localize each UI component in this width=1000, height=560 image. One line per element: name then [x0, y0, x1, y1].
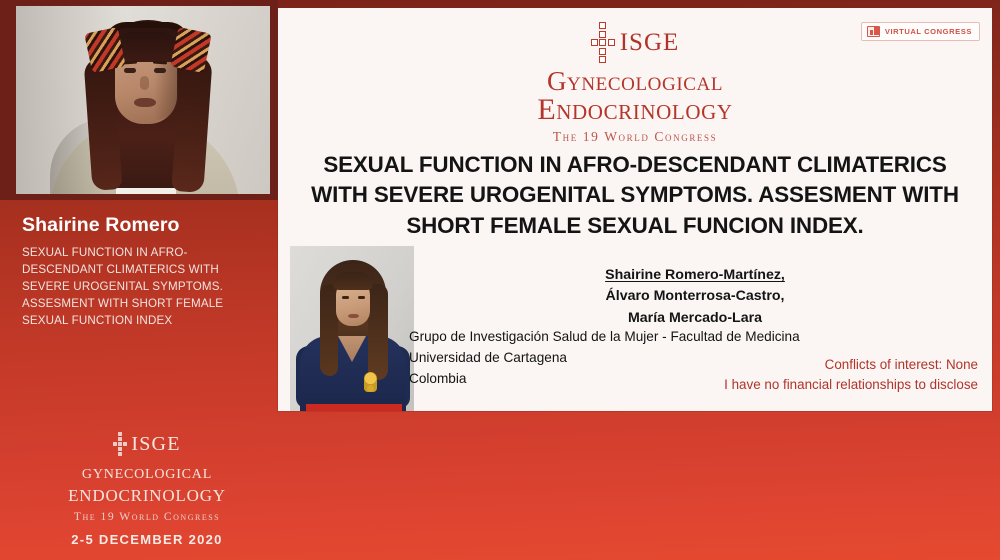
slide-logo-line2: Endocrinology: [278, 95, 992, 125]
portrait-eye-right: [358, 296, 365, 299]
portrait-mouth: [348, 314, 359, 318]
congress-logo: ISGE Gynecological Endocrinology The 19 …: [22, 432, 272, 547]
conflicts-line-2: I have no financial relationships to dis…: [724, 375, 978, 395]
presenter-portrait-photo: [290, 246, 414, 411]
slide-logo-line3: The 19 World Congress: [278, 129, 992, 145]
slide-canvas[interactable]: ISGE Gynecological Endocrinology The 19 …: [278, 8, 992, 411]
speaker-name: Shairine Romero: [22, 214, 256, 237]
congress-logo-isge-text: ISGE: [131, 433, 180, 456]
webcam-video-feed[interactable]: [16, 6, 270, 194]
slide-logo-line1: Gynecological: [278, 68, 992, 95]
author-list: Shairine Romero-Martínez, Álvaro Monterr…: [530, 265, 860, 329]
conflicts-line-1: Conflicts of interest: None: [724, 355, 978, 375]
virtual-congress-badge: VIRTUAL CONGRESS: [861, 22, 980, 41]
author-name-primary: Shairine Romero-Martínez,: [530, 265, 860, 286]
presentation-viewer: Shairine Romero SEXUAL FUNCTION IN AFRO-…: [0, 0, 1000, 560]
congress-logo-date: 2-5 DECEMBER 2020: [22, 532, 272, 547]
slide-logo-isge-text: ISGE: [620, 30, 680, 55]
congress-logo-line2: Endocrinology: [22, 482, 272, 507]
speaker-nose: [140, 76, 149, 90]
speaker-eye-left: [124, 68, 136, 73]
speaker-mouth: [134, 98, 156, 107]
portrait-hair-right: [368, 284, 388, 380]
congress-logo-isge-row: ISGE: [22, 432, 272, 456]
conflicts-of-interest-block: Conflicts of interest: None I have no fi…: [724, 355, 978, 395]
webcam-panel: [0, 0, 278, 200]
congress-logo-line3: The 19 World Congress: [22, 510, 272, 523]
portrait-hair-fringe: [333, 272, 373, 290]
speaker-talk-title: SEXUAL FUNCTION IN AFRO-DESCENDANT CLIMA…: [22, 244, 256, 329]
speaker-info-block: Shairine Romero SEXUAL FUNCTION IN AFRO-…: [0, 200, 278, 330]
portrait-red-band: [306, 404, 402, 411]
portrait-uniform-emblem-icon: [364, 372, 377, 392]
virtual-congress-badge-label: VIRTUAL CONGRESS: [885, 27, 972, 36]
speaker-eye-right: [154, 68, 166, 73]
isge-cross-mark-icon: [591, 22, 615, 63]
podium-icon: [867, 26, 880, 37]
author-name-second: Álvaro Monterrosa-Castro,: [530, 286, 860, 307]
slide-title: SEXUAL FUNCTION IN AFRO-DESCENDANT CLIMA…: [304, 150, 966, 241]
affiliation-line-1: Grupo de Investigación Salud de la Mujer…: [409, 326, 800, 347]
portrait-eye-left: [342, 296, 349, 299]
congress-logo-line1: Gynecological: [22, 462, 272, 483]
isge-cross-mark-icon: [113, 432, 127, 456]
